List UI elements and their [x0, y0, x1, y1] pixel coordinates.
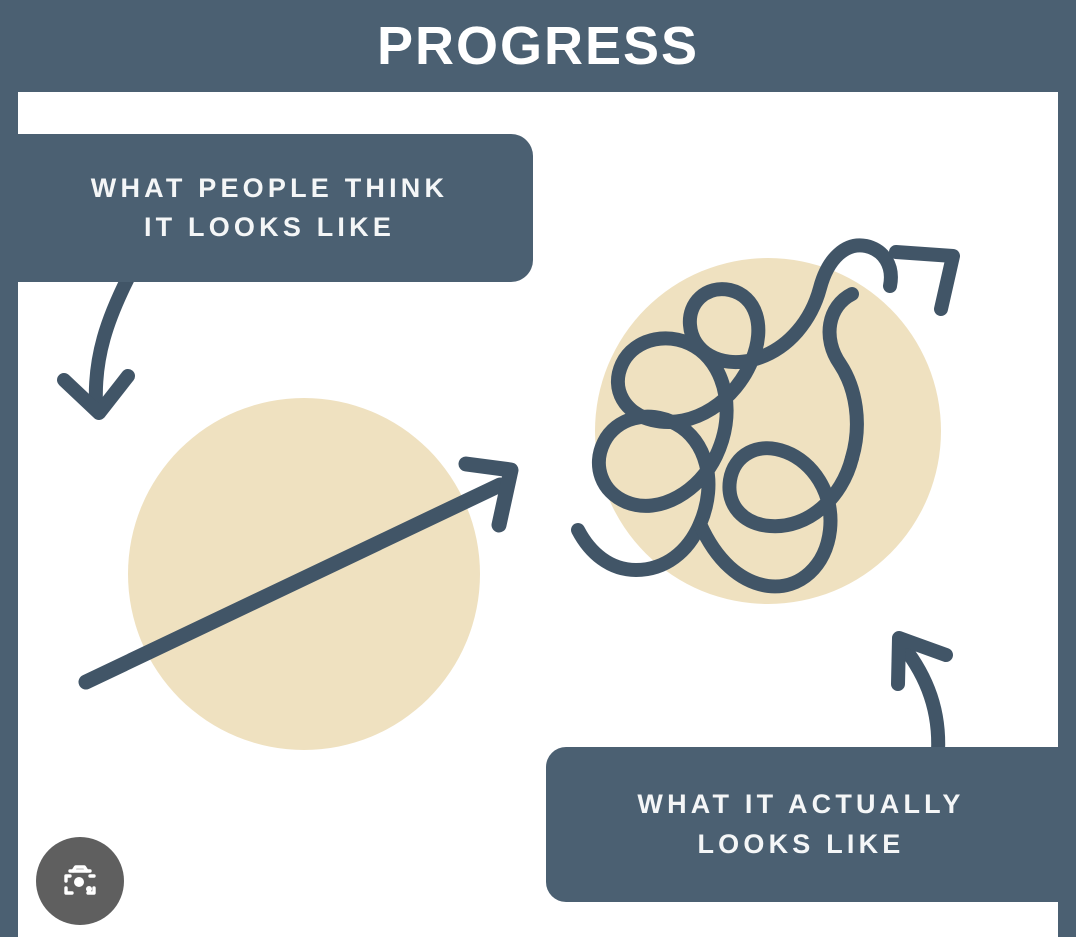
infographic-canvas: PROGRESS WHAT PEOPLE THINK [0, 0, 1076, 937]
lens-icon-center [74, 877, 84, 887]
page-title: PROGRESS [377, 19, 699, 73]
callout-think-line1: WHAT PEOPLE THINK [91, 173, 448, 203]
title-bar: PROGRESS [0, 0, 1076, 92]
lens-icon-dot [86, 886, 92, 892]
callout-think-line2: IT LOOKS LIKE [144, 212, 395, 242]
google-lens-button[interactable] [36, 837, 124, 925]
lens-icon [56, 857, 104, 905]
callout-what-it-actually-looks-like: WHAT IT ACTUALLY LOOKS LIKE [546, 747, 1076, 902]
callout-think-text: WHAT PEOPLE THINK IT LOOKS LIKE [91, 169, 448, 247]
callout-actual-text: WHAT IT ACTUALLY LOOKS LIKE [637, 785, 964, 863]
callout-actual-line2: LOOKS LIKE [697, 829, 904, 859]
callout-what-people-think: WHAT PEOPLE THINK IT LOOKS LIKE [0, 134, 533, 282]
callout-actual-line1: WHAT IT ACTUALLY [637, 789, 964, 819]
